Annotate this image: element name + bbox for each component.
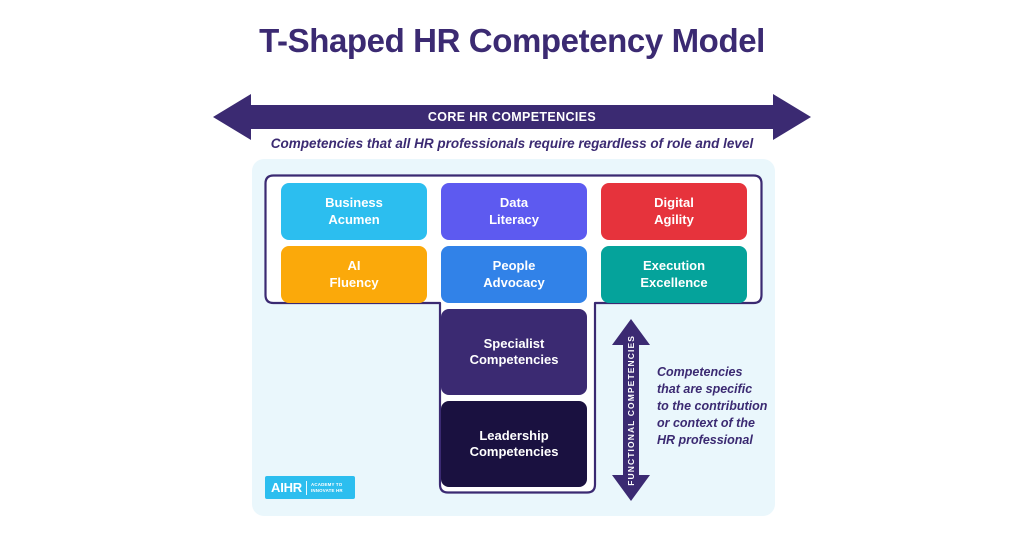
aihr-logo-divider <box>306 481 307 495</box>
competency-label-line2: Acumen <box>328 212 379 227</box>
competency-box-data-literacy[interactable]: Data Literacy <box>441 183 587 240</box>
core-competencies-arrow: CORE HR COMPETENCIES <box>213 94 811 140</box>
competency-label-line1: AI <box>348 258 361 273</box>
functional-competencies-arrow: FUNCTIONAL COMPETENCIES <box>612 319 650 501</box>
competency-label-line2: Excellence <box>640 275 707 290</box>
competency-box-label: Data Literacy <box>489 195 539 228</box>
competency-box-ai-fluency[interactable]: AI Fluency <box>281 246 427 303</box>
competency-label-line2: Advocacy <box>483 275 544 290</box>
competency-label-line2: Fluency <box>329 275 378 290</box>
competency-label-line2: Competencies <box>470 352 559 367</box>
competency-box-leadership-competencies[interactable]: Leadership Competencies <box>441 401 587 487</box>
competency-box-digital-agility[interactable]: Digital Agility <box>601 183 747 240</box>
functional-competencies-caption: Competencies that are specific to the co… <box>657 364 777 448</box>
competency-box-business-acumen[interactable]: Business Acumen <box>281 183 427 240</box>
competency-label-line1: Leadership <box>479 428 548 443</box>
aihr-logo-tagline: ACADEMY TO INNOVATE HR <box>311 482 343 494</box>
competency-box-label: People Advocacy <box>483 258 544 291</box>
competency-label-line1: Specialist <box>484 336 545 351</box>
aihr-logo-wordmark: AIHR <box>271 480 302 495</box>
competency-label-line2: Literacy <box>489 212 539 227</box>
page-title: T-Shaped HR Competency Model <box>0 22 1024 60</box>
competency-box-label: Business Acumen <box>325 195 383 228</box>
aihr-logo: AIHR ACADEMY TO INNOVATE HR <box>265 476 355 499</box>
competency-label-line1: Business <box>325 195 383 210</box>
competency-box-execution-excellence[interactable]: Execution Excellence <box>601 246 747 303</box>
competency-label-line1: People <box>493 258 536 273</box>
caption-line-2: that are specific <box>657 381 777 398</box>
competency-box-label: AI Fluency <box>329 258 378 291</box>
core-competencies-caption: Competencies that all HR professionals r… <box>213 136 811 151</box>
caption-line-1: Competencies <box>657 364 777 381</box>
caption-line-3: to the contribution <box>657 398 777 415</box>
aihr-logo-tagline-line2: INNOVATE HR <box>311 488 343 494</box>
aihr-logo-tagline-line1: ACADEMY TO <box>311 482 343 488</box>
competency-box-label: Specialist Competencies <box>470 336 559 369</box>
competency-label-line2: Agility <box>654 212 694 227</box>
competency-box-label: Leadership Competencies <box>470 428 559 461</box>
competency-box-label: Digital Agility <box>654 195 694 228</box>
competency-label-line2: Competencies <box>470 444 559 459</box>
caption-line-5: HR professional <box>657 432 777 449</box>
core-competencies-arrow-label: CORE HR COMPETENCIES <box>213 94 811 140</box>
caption-line-4: or context of the <box>657 415 777 432</box>
competency-label-line1: Digital <box>654 195 694 210</box>
competency-box-label: Execution Excellence <box>640 258 707 291</box>
competency-label-line1: Data <box>500 195 528 210</box>
functional-competencies-arrow-label: FUNCTIONAL COMPETENCIES <box>612 319 650 501</box>
competency-label-line1: Execution <box>643 258 705 273</box>
competency-box-people-advocacy[interactable]: People Advocacy <box>441 246 587 303</box>
competency-box-specialist-competencies[interactable]: Specialist Competencies <box>441 309 587 395</box>
